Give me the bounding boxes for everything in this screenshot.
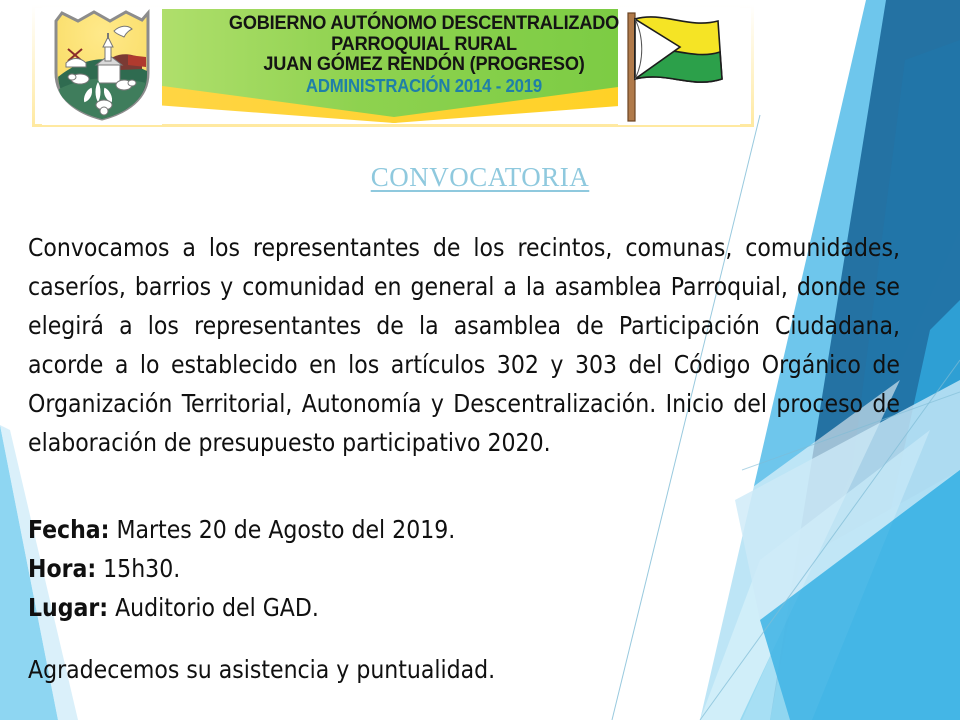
detail-value-lugar: Auditorio del GAD. bbox=[115, 593, 319, 622]
detail-label-hora: Hora: bbox=[28, 554, 96, 583]
document-content: CONVOCATORIA Convocamos a los representa… bbox=[0, 0, 960, 720]
detail-value-hora: 15h30. bbox=[103, 554, 180, 583]
detail-label-lugar: Lugar: bbox=[28, 593, 108, 622]
detail-value-fecha: Martes 20 de Agosto del 2019. bbox=[116, 515, 455, 544]
body-paragraph: Convocamos a los representantes de los r… bbox=[28, 228, 900, 462]
event-details-list: Fecha: Martes 20 de Agosto del 2019. Hor… bbox=[28, 510, 728, 627]
detail-row-fecha: Fecha: Martes 20 de Agosto del 2019. bbox=[28, 510, 728, 549]
slide-canvas: GOBIERNO AUTÓNOMO DESCENTRALIZADO PARROQ… bbox=[0, 0, 960, 720]
convocation-text: Convocamos a los representantes de los r… bbox=[28, 228, 900, 462]
closing-line: Agradecemos su asistencia y puntualidad. bbox=[28, 650, 788, 689]
detail-row-hora: Hora: 15h30. bbox=[28, 549, 728, 588]
detail-row-lugar: Lugar: Auditorio del GAD. bbox=[28, 588, 728, 627]
page-title: CONVOCATORIA bbox=[0, 162, 960, 193]
detail-label-fecha: Fecha: bbox=[28, 515, 109, 544]
